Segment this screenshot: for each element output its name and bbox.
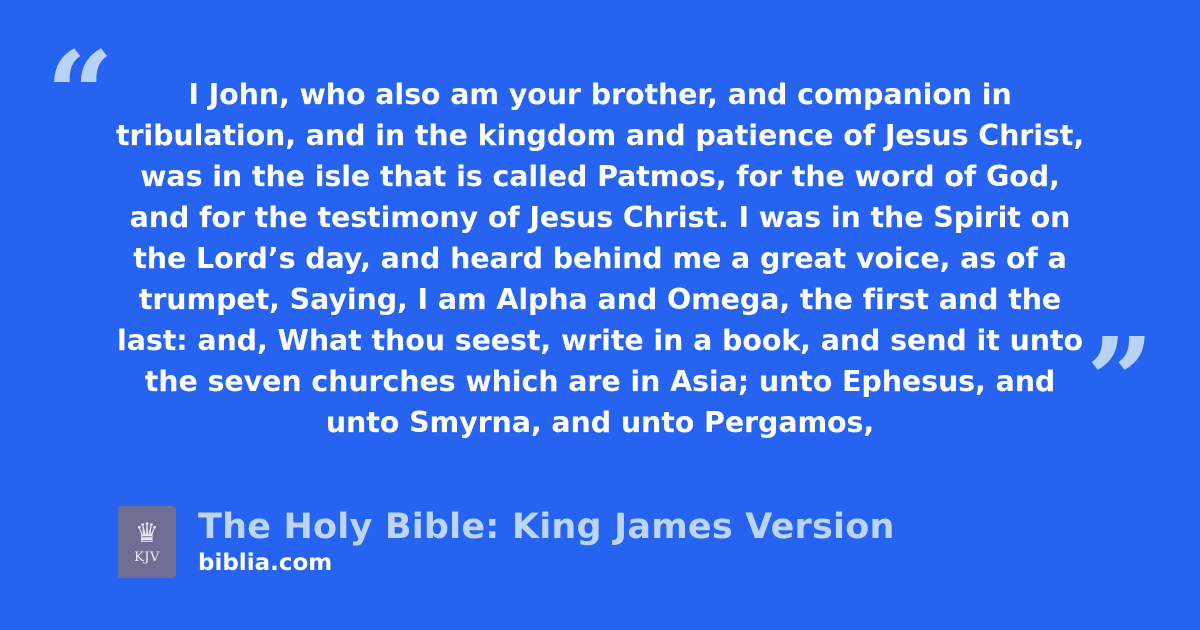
- quote-open-icon: “: [46, 36, 114, 154]
- site-url-label: biblia.com: [198, 551, 895, 576]
- kjv-abbreviation-label: KJV: [134, 551, 160, 564]
- quote-text: I John, who also am your brother, and co…: [110, 74, 1090, 443]
- quote-card: “ ” I John, who also am your brother, an…: [0, 0, 1200, 630]
- brand-text: The Holy Bible: King James Version bibli…: [198, 507, 895, 577]
- quote-close-icon: ”: [1086, 322, 1154, 440]
- crown-icon: ♛: [135, 520, 159, 547]
- quote-block: I John, who also am your brother, and co…: [110, 74, 1090, 443]
- bible-version-title: The Holy Bible: King James Version: [198, 507, 895, 547]
- attribution-footer: ♛ KJV The Holy Bible: King James Version…: [118, 506, 895, 578]
- kjv-logo: ♛ KJV: [118, 506, 176, 578]
